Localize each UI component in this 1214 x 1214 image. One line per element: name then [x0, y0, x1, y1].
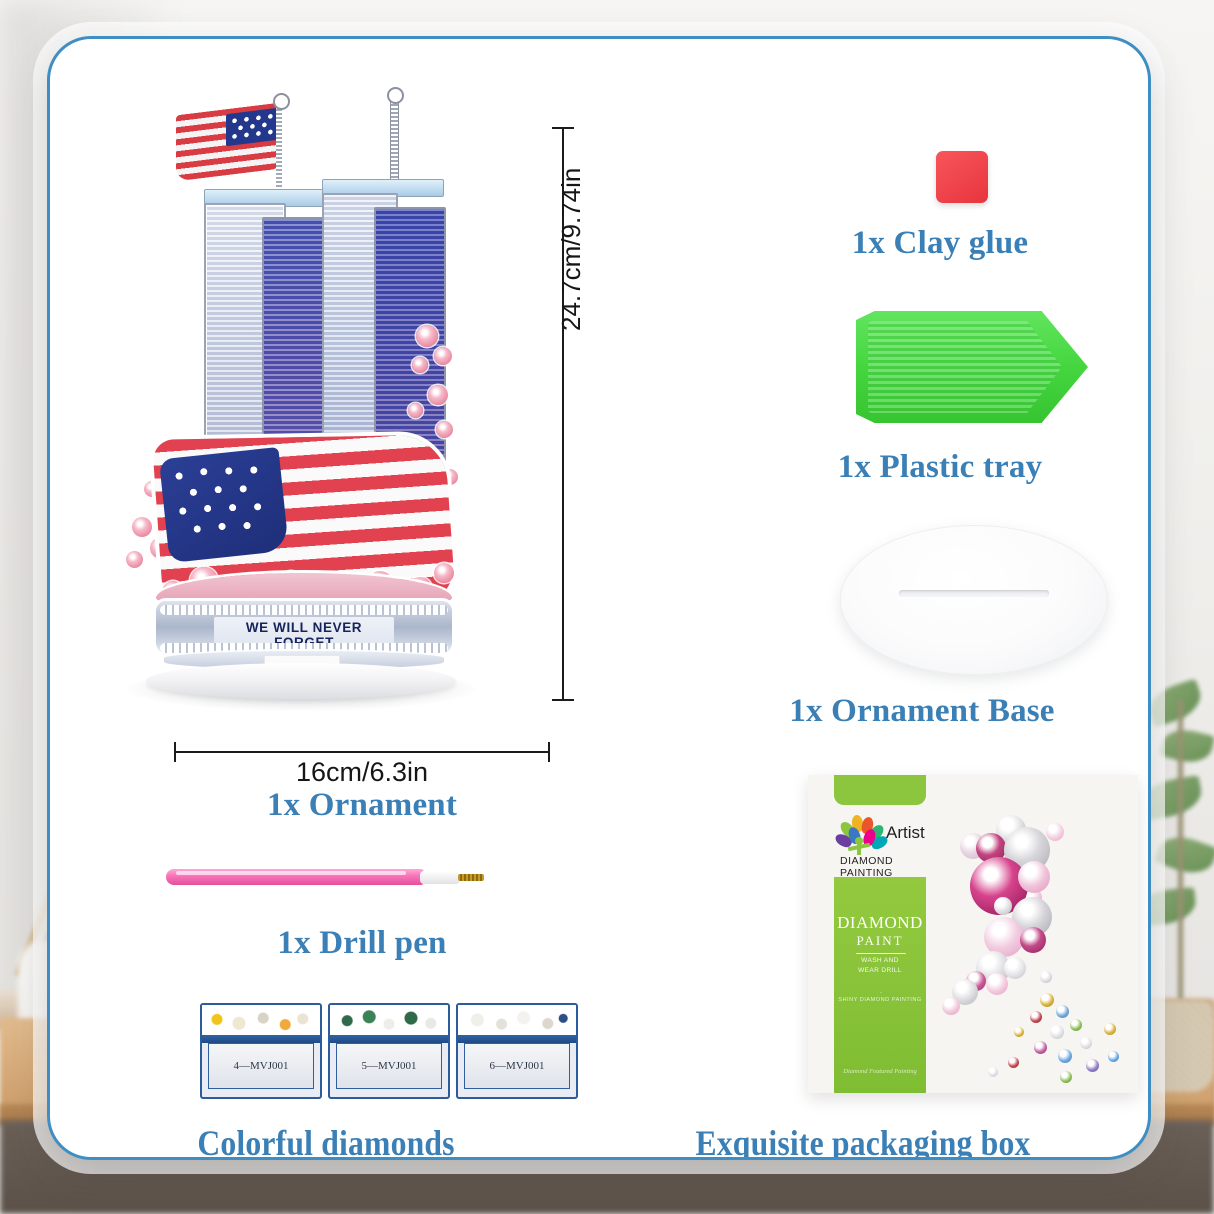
- gem-icon: [1080, 1037, 1092, 1049]
- gem-icon: [1056, 1005, 1069, 1018]
- blossom-icon: [126, 551, 143, 568]
- drill-pen-label: 1x Drill pen: [110, 927, 614, 960]
- gem-icon: [1108, 1051, 1119, 1062]
- ornament-illustration: WE WILL NEVER FORGET: [68, 67, 568, 757]
- gem-icon: [1058, 1049, 1072, 1063]
- brand-name: Artist: [886, 823, 925, 843]
- packaging-box-illustration: Artist DIAMOND PAINTING DIAMOND PAINT WA…: [808, 775, 1138, 1093]
- gem-icon: [1014, 1027, 1024, 1037]
- box-footer-text: Diamond Featured Painting: [836, 1068, 924, 1075]
- blossom-icon: [412, 357, 428, 373]
- packaging-box-label: Exquisite packaging box: [623, 1125, 1103, 1160]
- ornament-label: 1x Ornament: [110, 789, 614, 822]
- gem-icon: [942, 997, 960, 1015]
- height-dimension-cap-bottom: [552, 699, 574, 701]
- bead-cluster-icon: [206, 1009, 316, 1035]
- gem-icon: [1070, 1019, 1082, 1031]
- gem-icon: [1020, 927, 1046, 953]
- clay-glue-icon: [936, 151, 988, 203]
- pen-nib-icon: [458, 874, 484, 881]
- width-dimension-label: 16cm/6.3in: [174, 757, 550, 788]
- diamond-bag: 4—MVJ001: [200, 1003, 322, 1099]
- bead-cluster-icon: [462, 1009, 572, 1035]
- product-card: WE WILL NEVER FORGET 24.7cm/9.74in 16cm/…: [47, 36, 1151, 1160]
- gem-icon: [1004, 957, 1026, 979]
- gem-icon: [1060, 1071, 1072, 1083]
- height-dimension-cap-top: [552, 127, 574, 129]
- width-dimension-line: [174, 751, 550, 753]
- diamond-bag: 5—MVJ001: [328, 1003, 450, 1099]
- ornament-acrylic-figure: WE WILL NEVER FORGET: [116, 85, 486, 705]
- plant-stem: [1178, 700, 1183, 1000]
- ornament-base-label: 1x Ornament Base: [710, 695, 1134, 728]
- blossom-icon: [434, 347, 452, 365]
- bag-code-label: 4—MVJ001: [208, 1043, 314, 1089]
- gem-icon: [1008, 1057, 1019, 1068]
- gem-icon: [1018, 861, 1050, 893]
- bead-cluster-icon: [334, 1009, 444, 1035]
- box-subtitle: PAINT: [836, 933, 924, 949]
- colorful-diamonds-label: Colorful diamonds: [97, 1125, 555, 1160]
- antenna-knob-icon: [387, 87, 404, 104]
- diamond-bags-illustration: 4—MVJ001 5—MVJ001 6—MVJ001: [200, 997, 580, 1107]
- box-title: DIAMOND: [836, 913, 924, 933]
- diamond-bag: 6—MVJ001: [456, 1003, 578, 1099]
- gem-icon: [1040, 971, 1052, 983]
- gem-icon: [994, 897, 1012, 915]
- gem-icon: [1040, 993, 1054, 1007]
- ornament-base-icon: [840, 525, 1108, 675]
- gem-icon: [1086, 1059, 1099, 1072]
- bag-code-label: 6—MVJ001: [464, 1043, 570, 1089]
- gem-icon: [986, 973, 1008, 995]
- blossom-icon: [416, 325, 438, 347]
- artist-logo: Artist DIAMOND PAINTING: [838, 815, 934, 871]
- antenna-knob-icon: [273, 93, 290, 110]
- brand-subtitle: DIAMOND PAINTING: [840, 855, 934, 879]
- badge-line-1: WASH AND: [836, 957, 924, 964]
- small-flag-icon: [176, 109, 280, 175]
- box-small-text: SHINY DIAMOND PAINTING: [836, 997, 924, 1003]
- bag-code-label: 5—MVJ001: [336, 1043, 442, 1089]
- gem-icon: [1030, 1011, 1042, 1023]
- blossom-icon: [132, 517, 152, 537]
- box-top-tab: [834, 775, 926, 805]
- base-slot: [899, 590, 1049, 597]
- plastic-tray-icon: [856, 311, 1088, 423]
- flag-pole: [276, 103, 282, 195]
- badge-line-2: WEAR DRILL: [836, 967, 924, 974]
- gem-icon: [1104, 1023, 1116, 1035]
- tree-logo-icon: [838, 815, 884, 855]
- blossom-icon: [428, 385, 448, 405]
- gem-icon: [988, 1067, 998, 1077]
- gem-icon: [1046, 823, 1064, 841]
- pen-highlight: [176, 871, 406, 875]
- blossom-icon: [436, 421, 453, 438]
- infographic-stage: WE WILL NEVER FORGET 24.7cm/9.74in 16cm/…: [0, 0, 1214, 1214]
- tower-antenna-icon: [390, 97, 399, 185]
- gem-icon: [1034, 1041, 1047, 1054]
- gem-icon: [1050, 1025, 1064, 1039]
- pen-ferrule: [420, 871, 460, 884]
- clay-glue-label: 1x Clay glue: [750, 227, 1130, 260]
- ornament-stand-disc: [146, 663, 456, 699]
- plastic-tray-label: 1x Plastic tray: [750, 451, 1130, 484]
- blossom-icon: [408, 403, 423, 418]
- height-dimension-label: 24.7cm/9.74in: [556, 168, 587, 331]
